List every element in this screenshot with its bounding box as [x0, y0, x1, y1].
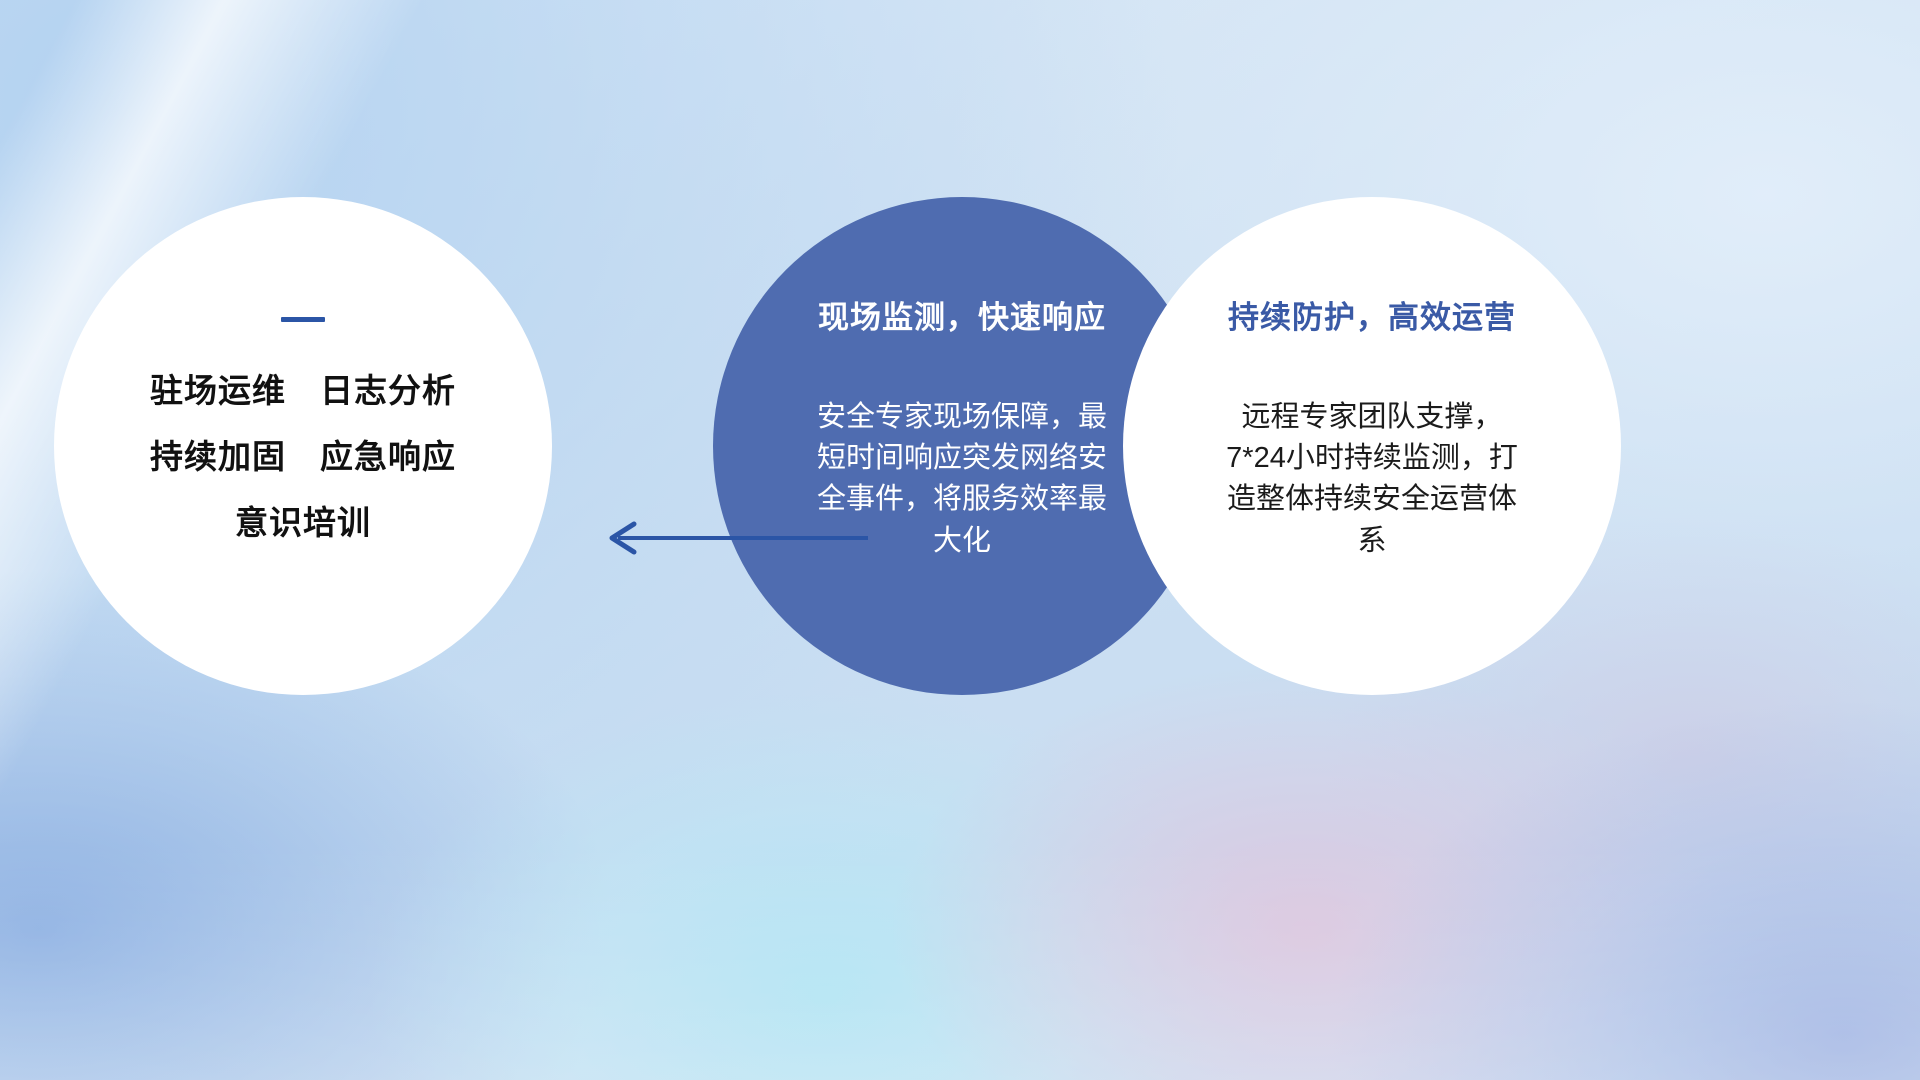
left-service-row-1: 驻场运维 日志分析: [150, 364, 456, 412]
service-item-5[interactable]: 意识培训: [235, 496, 371, 544]
service-item-3[interactable]: 持续加固: [150, 430, 286, 478]
middle-card-title: 现场监测，快速响应: [818, 301, 1106, 335]
service-item-1[interactable]: 驻场运维: [150, 364, 286, 412]
right-card-body: 远程专家团队支撑，7*24小时持续监测，打造整体持续安全运营体系: [1222, 397, 1522, 562]
slide-canvas: 驻场运维 日志分析 持续加固 应急响应 意识培训 现场监测，快速响应 安全专家现…: [0, 0, 1920, 1080]
divider-line: [281, 317, 325, 322]
arrow-left-icon: [600, 518, 870, 558]
left-service-row-3: 意识培训: [235, 496, 371, 544]
left-service-row-2: 持续加固 应急响应: [150, 430, 456, 478]
service-item-2[interactable]: 日志分析: [320, 364, 456, 412]
left-service-list: 驻场运维 日志分析 持续加固 应急响应 意识培训: [150, 364, 456, 544]
right-card-title: 持续防护，高效运营: [1228, 301, 1516, 335]
service-item-4[interactable]: 应急响应: [320, 430, 456, 478]
left-service-circle[interactable]: 驻场运维 日志分析 持续加固 应急响应 意识培训: [54, 197, 552, 695]
right-operations-circle[interactable]: 持续防护，高效运营 远程专家团队支撑，7*24小时持续监测，打造整体持续安全运营…: [1123, 197, 1621, 695]
